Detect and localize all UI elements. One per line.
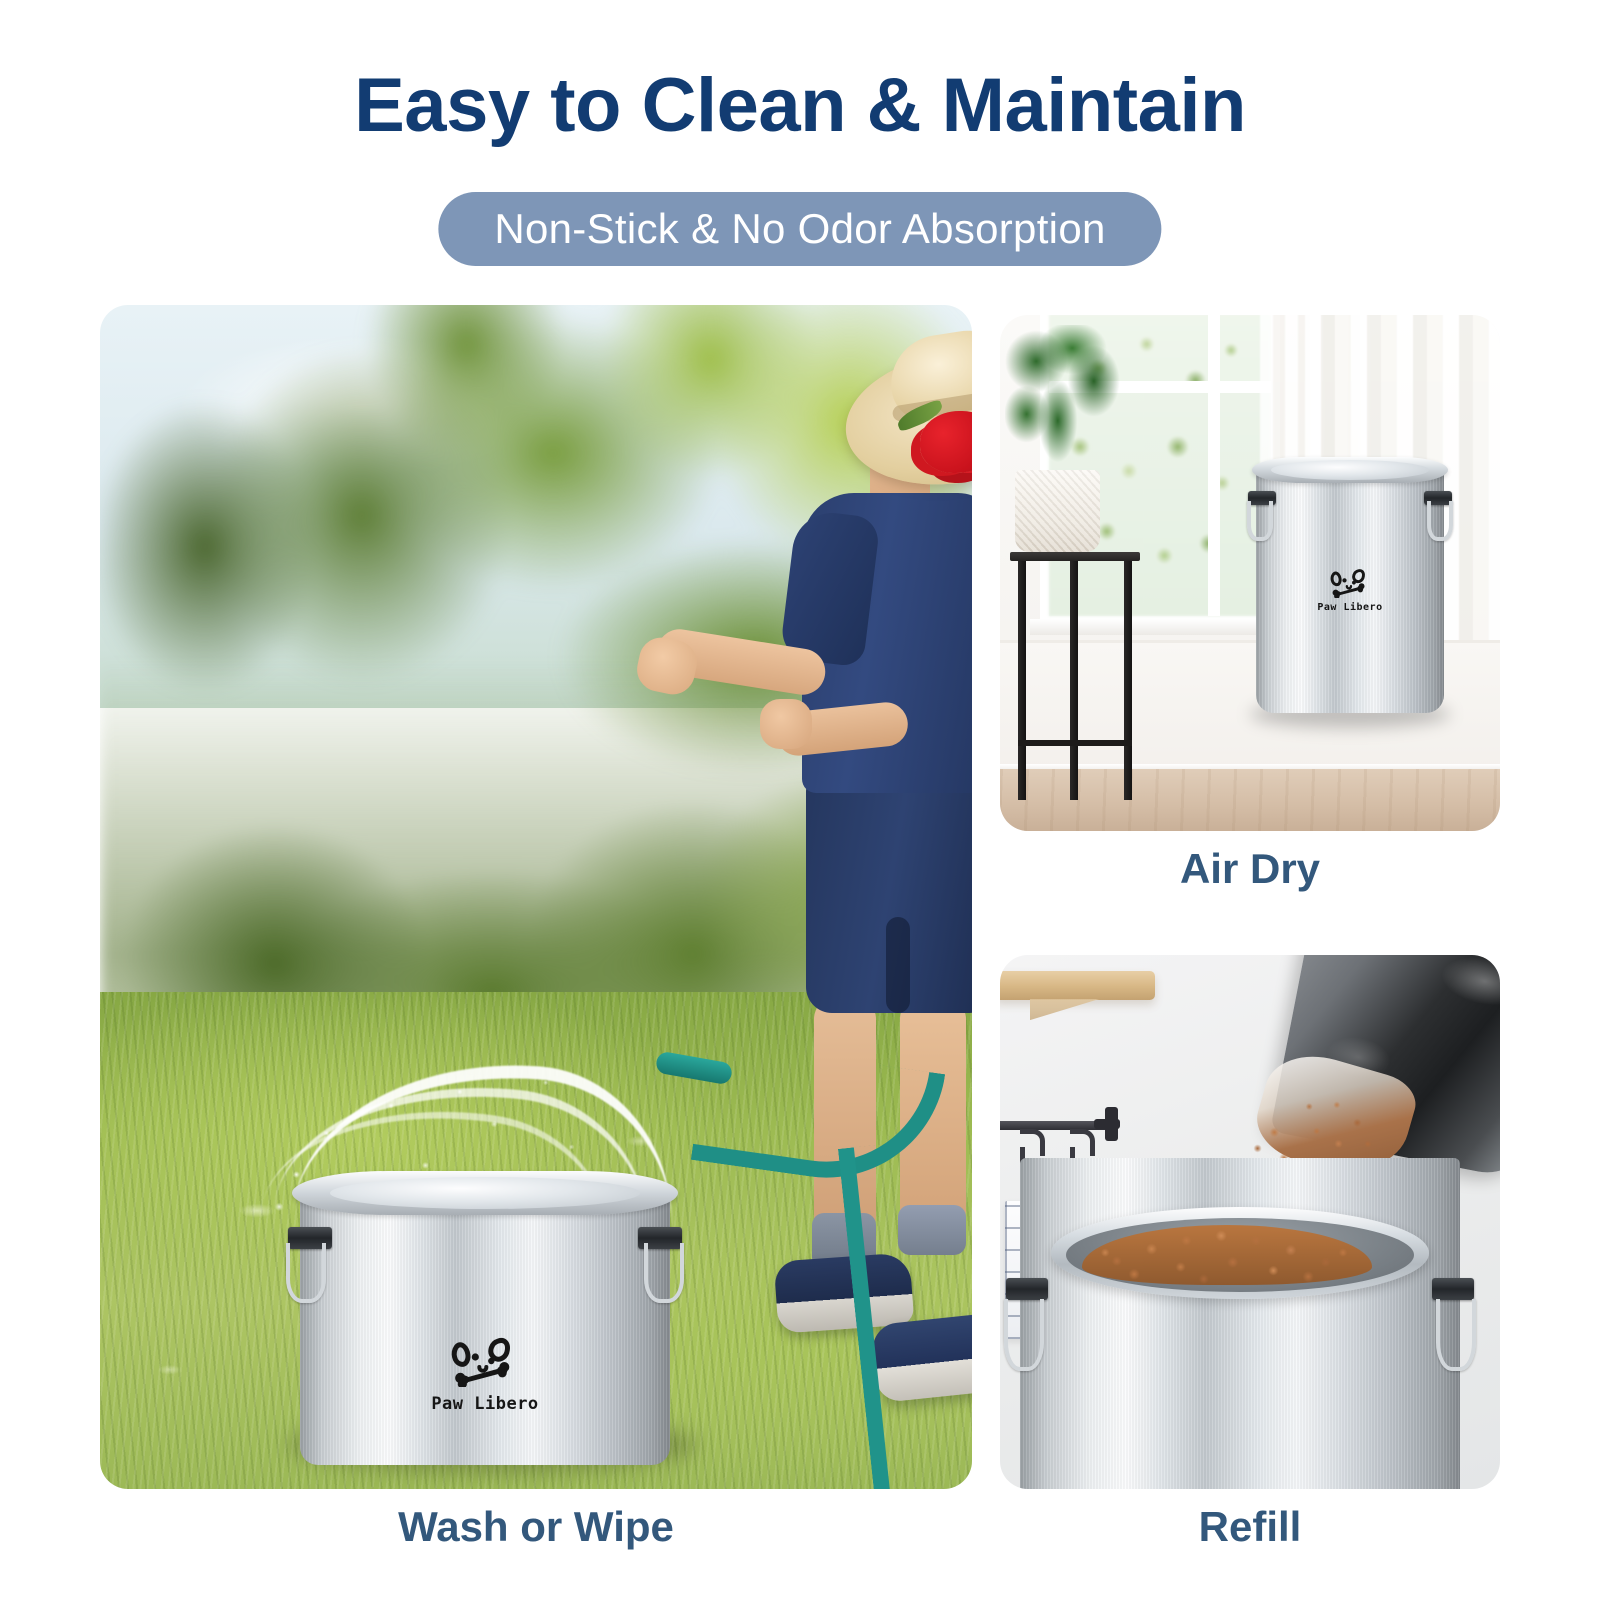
canister-latch-hook-left	[286, 1243, 326, 1303]
canister-product-wash: Paw Libero	[300, 1185, 670, 1465]
caption-wash: Wash or Wipe	[100, 1503, 972, 1551]
console-table	[1010, 552, 1140, 800]
caption-refill: Refill	[1000, 1503, 1500, 1551]
garden-scene: Paw Libero	[100, 305, 972, 1489]
canister-latch-hook-left	[1004, 1299, 1044, 1371]
infographic-page: Easy to Clean & Maintain Non-Stick & No …	[0, 0, 1600, 1600]
canister-latch-hook-right	[1427, 501, 1453, 541]
canister-product-refill	[1020, 1158, 1460, 1489]
boy-shorts	[806, 775, 972, 1013]
canister-latch-right	[1432, 1278, 1474, 1300]
photo-panel-air-dry: Paw Libero	[1000, 315, 1500, 831]
canister-lid	[1271, 460, 1429, 480]
canister-latch-hook-left	[1247, 501, 1273, 541]
boy-right-hand	[760, 699, 812, 749]
canister-body	[300, 1185, 670, 1465]
brand-logo: Paw Libero	[1317, 565, 1382, 613]
plant-pot	[1015, 470, 1100, 553]
monstera-plant	[1005, 325, 1125, 490]
living-room-scene: Paw Libero	[1000, 315, 1500, 831]
canister-product-air-dry: Paw Libero	[1256, 465, 1444, 713]
subtitle-text: Non-Stick & No Odor Absorption	[494, 205, 1105, 253]
page-title: Easy to Clean & Maintain	[0, 68, 1600, 144]
photo-panel-wash: Paw Libero	[100, 305, 972, 1489]
canister-latch-left	[1006, 1278, 1048, 1300]
table-rail	[1018, 740, 1132, 746]
refill-scene	[1000, 955, 1500, 1489]
table-leg	[1124, 561, 1132, 800]
wood-shelf	[1000, 971, 1155, 1000]
canister-lid	[330, 1177, 641, 1209]
window-mullion-vertical	[1208, 315, 1220, 616]
caption-air-dry: Air Dry	[1000, 845, 1500, 893]
brand-name: Paw Libero	[1317, 603, 1382, 613]
dog-face-with-bone-icon	[1327, 565, 1373, 598]
brand-name: Paw Libero	[431, 1396, 538, 1413]
canister-latch-hook-right	[644, 1243, 684, 1303]
brand-logo: Paw Libero	[431, 1331, 538, 1413]
table-top	[1010, 552, 1140, 561]
rail-end-bracket	[1105, 1107, 1118, 1141]
photo-panel-refill	[1000, 955, 1500, 1489]
table-leg	[1070, 561, 1078, 800]
canister-latch-hook-right	[1436, 1299, 1476, 1371]
subtitle-pill: Non-Stick & No Odor Absorption	[438, 192, 1161, 266]
dog-face-with-bone-icon	[446, 1331, 524, 1387]
table-leg	[1018, 561, 1026, 800]
